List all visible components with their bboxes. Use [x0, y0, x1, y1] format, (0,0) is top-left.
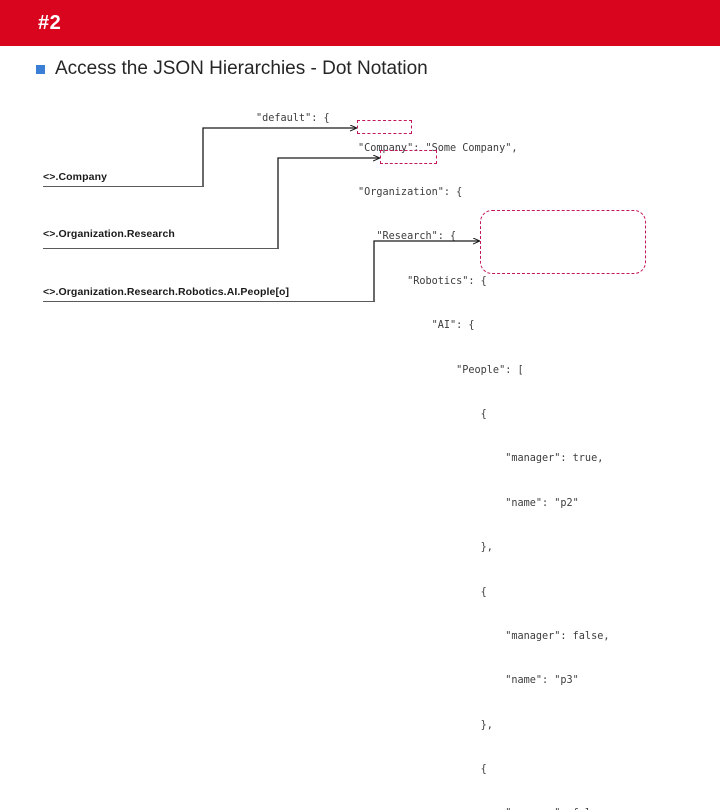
highlight-box-research-key: [380, 150, 437, 164]
json-line: "manager": false,: [358, 630, 609, 645]
slide-header-band: [0, 0, 720, 46]
json-line: "Organization": {: [358, 186, 609, 201]
json-line: "People": [: [358, 364, 609, 379]
slide-heading-text: Access the JSON Hierarchies - Dot Notati…: [55, 57, 428, 81]
json-line: {: [358, 763, 609, 778]
json-line: "AI": {: [358, 319, 609, 334]
json-line: "name": "p2": [358, 497, 609, 512]
json-line: {: [358, 408, 609, 423]
path-underline-company: [43, 186, 204, 187]
connector-company: [203, 128, 356, 186]
json-line: },: [358, 719, 609, 734]
json-line: },: [358, 541, 609, 556]
json-line: "manager": true,: [358, 452, 609, 467]
highlight-box-people-first-element: [480, 210, 646, 274]
json-line: "Robotics": {: [358, 275, 609, 290]
slide-heading-row: Access the JSON Hierarchies - Dot Notati…: [36, 57, 428, 81]
json-line: {: [358, 586, 609, 601]
json-line: "name": "p3": [358, 674, 609, 689]
json-default-line: "default": {: [256, 112, 330, 127]
path-underline-organization-research: [43, 248, 279, 249]
json-line: "manager": false,: [358, 807, 609, 810]
path-label-people-index: <>.Organization.Research.Robotics.AI.Peo…: [43, 286, 289, 298]
square-bullet-icon: [36, 65, 45, 74]
path-underline-people-index: [43, 301, 375, 302]
path-label-company: <>.Company: [43, 171, 107, 183]
highlight-box-company-key: [357, 120, 412, 134]
slide-number: #2: [38, 10, 61, 36]
path-label-organization-research: <>.Organization.Research: [43, 228, 175, 240]
